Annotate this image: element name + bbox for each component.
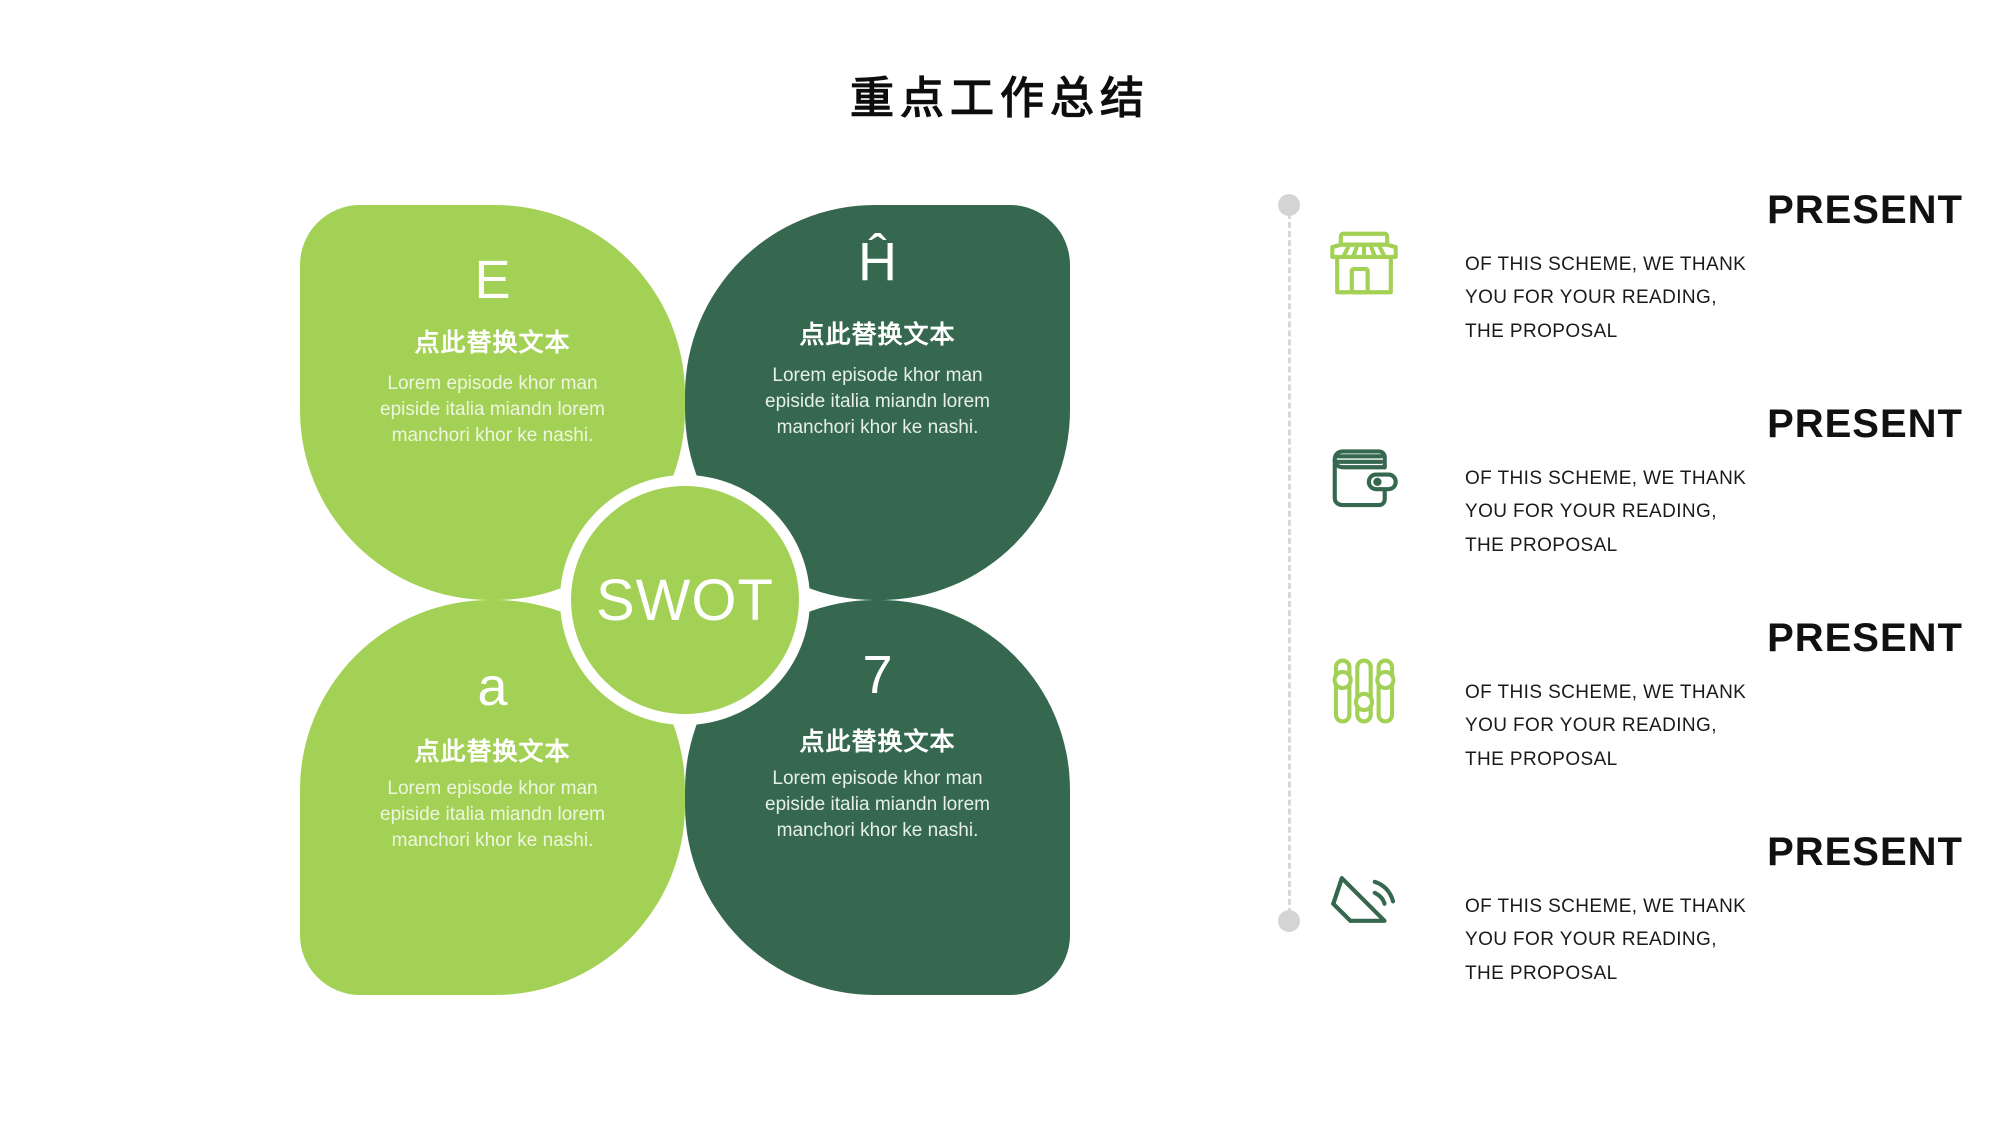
timeline-desc-line: OF THIS SCHEME, WE THANK — [1465, 676, 1765, 709]
timeline-dot-top — [1278, 194, 1300, 216]
timeline-text-2: PRESENT OF THIS SCHEME, WE THANK YOU FOR… — [1440, 404, 1965, 562]
timeline-heading: PRESENT — [1465, 832, 1965, 872]
timeline-desc-line: YOU FOR YOUR READING, — [1465, 709, 1765, 742]
wallet-icon — [1325, 404, 1440, 562]
timeline-text-4: PRESENT OF THIS SCHEME, WE THANK YOU FOR… — [1440, 832, 1965, 990]
swot-petal-subtitle: 点此替换文本 — [799, 315, 955, 351]
timeline-text-3: PRESENT OF THIS SCHEME, WE THANK YOU FOR… — [1440, 618, 1965, 776]
digit-seven-icon: 7 — [862, 648, 892, 702]
timeline-desc-line: OF THIS SCHEME, WE THANK — [1465, 462, 1765, 495]
timeline-desc-line: THE PROPOSAL — [1465, 529, 1765, 562]
timeline-item-1[interactable]: PRESENT OF THIS SCHEME, WE THANK YOU FOR… — [1325, 190, 1965, 348]
timeline-heading: PRESENT — [1465, 618, 1965, 658]
speaker-muted-icon — [1325, 832, 1440, 990]
storefront-icon — [1325, 190, 1440, 348]
timeline-desc-line: YOU FOR YOUR READING, — [1465, 923, 1765, 956]
timeline-item-3[interactable]: PRESENT OF THIS SCHEME, WE THANK YOU FOR… — [1325, 618, 1965, 776]
letter-e-icon: E — [474, 253, 510, 307]
timeline-text-1: PRESENT OF THIS SCHEME, WE THANK YOU FOR… — [1440, 190, 1965, 348]
swot-petal-body: Lorem episode khor man episide italia mi… — [365, 776, 620, 855]
timeline-description: OF THIS SCHEME, WE THANK YOU FOR YOUR RE… — [1465, 890, 1765, 990]
swot-diagram: E 点此替换文本 Lorem episode khor man episide … — [300, 205, 1070, 995]
sliders-icon — [1325, 618, 1440, 776]
swot-petal-subtitle: 点此替换文本 — [414, 732, 570, 768]
timeline-desc-line: THE PROPOSAL — [1465, 957, 1765, 990]
swot-petal-body: Lorem episode khor man episide italia mi… — [750, 363, 1005, 442]
swot-petal-body: Lorem episode khor man episide italia mi… — [365, 371, 620, 450]
timeline-desc-line: OF THIS SCHEME, WE THANK — [1465, 890, 1765, 923]
timeline-item-2[interactable]: PRESENT OF THIS SCHEME, WE THANK YOU FOR… — [1325, 404, 1965, 562]
timeline-desc-line: OF THIS SCHEME, WE THANK — [1465, 248, 1765, 281]
timeline-panel: PRESENT OF THIS SCHEME, WE THANK YOU FOR… — [1270, 190, 1970, 950]
timeline-desc-line: THE PROPOSAL — [1465, 743, 1765, 776]
timeline-desc-line: YOU FOR YOUR READING, — [1465, 495, 1765, 528]
timeline-heading: PRESENT — [1465, 190, 1965, 230]
swot-petal-subtitle: 点此替换文本 — [799, 722, 955, 758]
timeline-dot-bottom — [1278, 910, 1300, 932]
timeline-dashed-line — [1288, 204, 1291, 932]
letter-h-circumflex-icon: Ĥ — [858, 235, 897, 289]
swot-petal-body: Lorem episode khor man episide italia mi… — [750, 766, 1005, 845]
timeline-desc-line: THE PROPOSAL — [1465, 315, 1765, 348]
swot-petal-subtitle: 点此替换文本 — [414, 323, 570, 359]
timeline-description: OF THIS SCHEME, WE THANK YOU FOR YOUR RE… — [1465, 462, 1765, 562]
timeline-item-4[interactable]: PRESENT OF THIS SCHEME, WE THANK YOU FOR… — [1325, 832, 1965, 990]
timeline-description: OF THIS SCHEME, WE THANK YOU FOR YOUR RE… — [1465, 248, 1765, 348]
timeline-heading: PRESENT — [1465, 404, 1965, 444]
letter-a-icon: a — [477, 660, 507, 714]
page-title: 重点工作总结 — [0, 62, 2000, 126]
timeline-description: OF THIS SCHEME, WE THANK YOU FOR YOUR RE… — [1465, 676, 1765, 776]
swot-center-label[interactable]: SWOT — [560, 475, 810, 725]
timeline-desc-line: YOU FOR YOUR READING, — [1465, 281, 1765, 314]
